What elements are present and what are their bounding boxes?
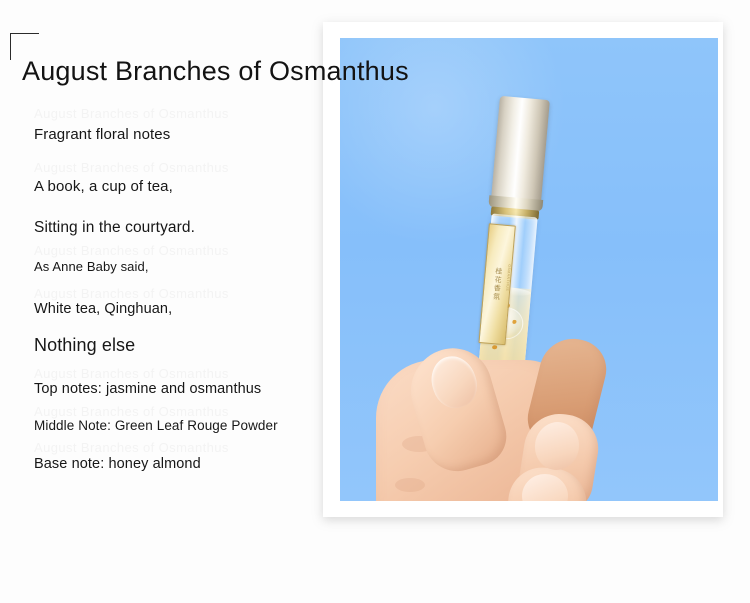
perfume-bottle: 桂花香氛 OSMANTHUS — [454, 95, 561, 500]
page-title: August Branches of Osmanthus — [22, 56, 409, 87]
poem-line-3: As Anne Baby said, — [34, 259, 149, 274]
note-top: Top notes: jasmine and osmanthus — [34, 381, 261, 397]
watermark: August Branches of Osmanthus — [34, 366, 229, 381]
knuckle-crease — [395, 478, 425, 492]
poem-line-5: Nothing else — [34, 335, 135, 356]
text-column: August Branches of Osmanthus August Bran… — [0, 0, 330, 603]
note-middle: Middle Note: Green Leaf Rouge Powder — [34, 418, 278, 433]
product-photo-card: 桂花香氛 OSMANTHUS — [323, 22, 723, 517]
ring-finger-nail — [522, 474, 568, 501]
watermark: August Branches of Osmanthus — [34, 404, 229, 419]
poem-line-1: A book, a cup of tea, — [34, 178, 173, 195]
bottle-cap — [491, 96, 550, 205]
watermark: August Branches of Osmanthus — [34, 286, 229, 301]
page-canvas: 桂花香氛 OSMANTHUS August Branches of — [0, 0, 750, 603]
subtitle-fragrance-notes: Fragrant floral notes — [34, 126, 170, 143]
middle-finger-nail — [531, 419, 583, 474]
note-base: Base note: honey almond — [34, 456, 201, 472]
watermark: August Branches of Osmanthus — [34, 440, 229, 455]
watermark: August Branches of Osmanthus — [34, 106, 229, 121]
watermark: August Branches of Osmanthus — [34, 243, 229, 258]
poem-line-2: Sitting in the courtyard. — [34, 219, 195, 237]
bottle-label-subtext: OSMANTHUS — [484, 262, 511, 291]
watermark: August Branches of Osmanthus — [34, 160, 229, 175]
poem-line-4: White tea, Qinghuan, — [34, 301, 172, 317]
knuckle-crease — [402, 436, 436, 452]
product-photo: 桂花香氛 OSMANTHUS — [340, 38, 718, 501]
bottle-base — [467, 479, 514, 499]
